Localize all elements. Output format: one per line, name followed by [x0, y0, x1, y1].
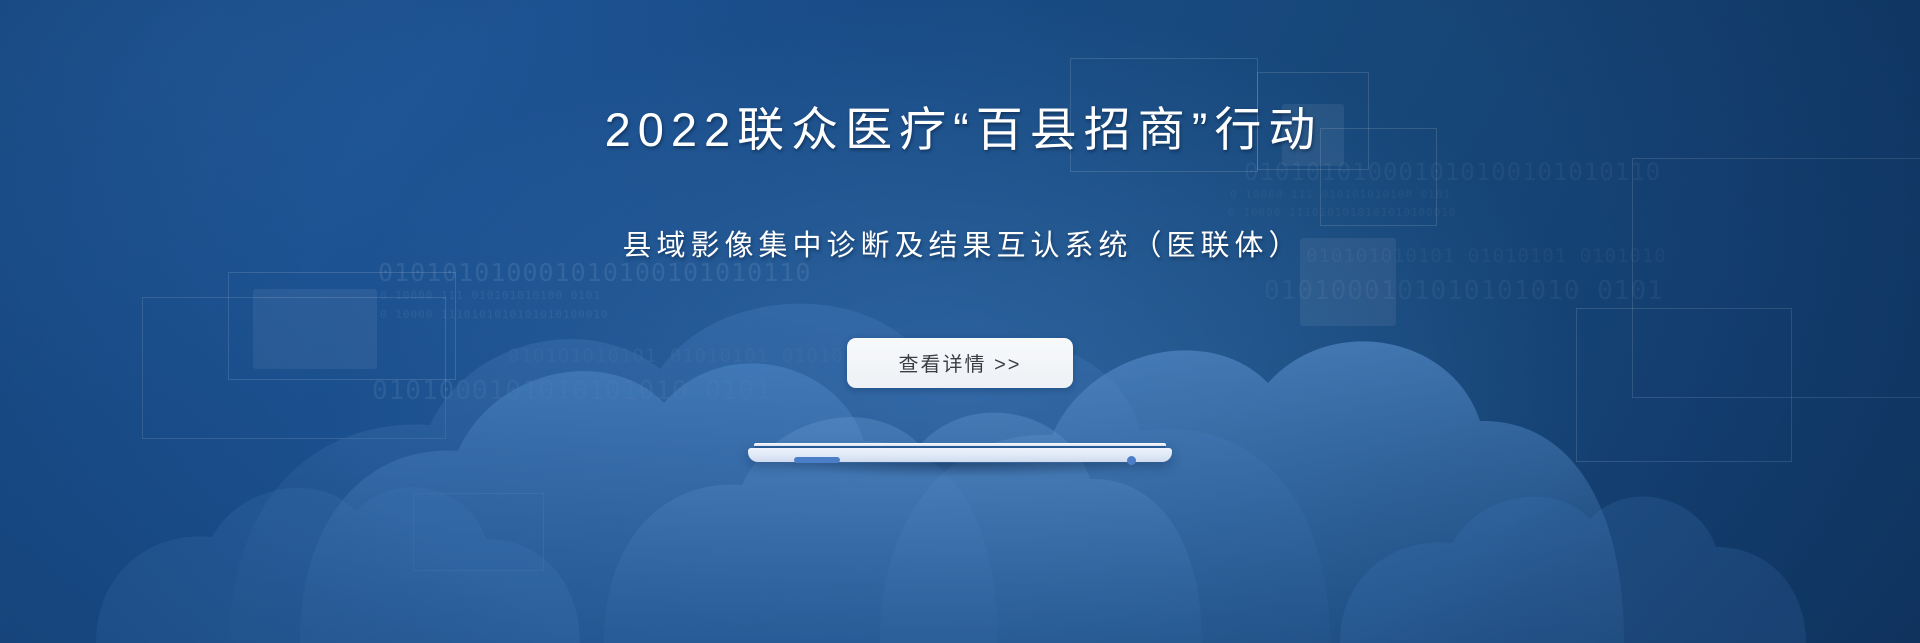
banner-content: 2022联众医疗“百县招商”行动 县域影像集中诊断及结果互认系统（医联体） 查看…	[0, 0, 1920, 643]
view-details-button[interactable]: 查看详情 >>	[847, 338, 1073, 388]
banner-subtitle: 县域影像集中诊断及结果互认系统（医联体）	[617, 222, 1302, 264]
banner-title: 2022联众医疗“百县招商”行动	[598, 103, 1323, 157]
cta-container: 查看详情 >>	[847, 338, 1073, 388]
promo-banner: 010101010001010100101010110 0 10000 111 …	[0, 0, 1920, 643]
